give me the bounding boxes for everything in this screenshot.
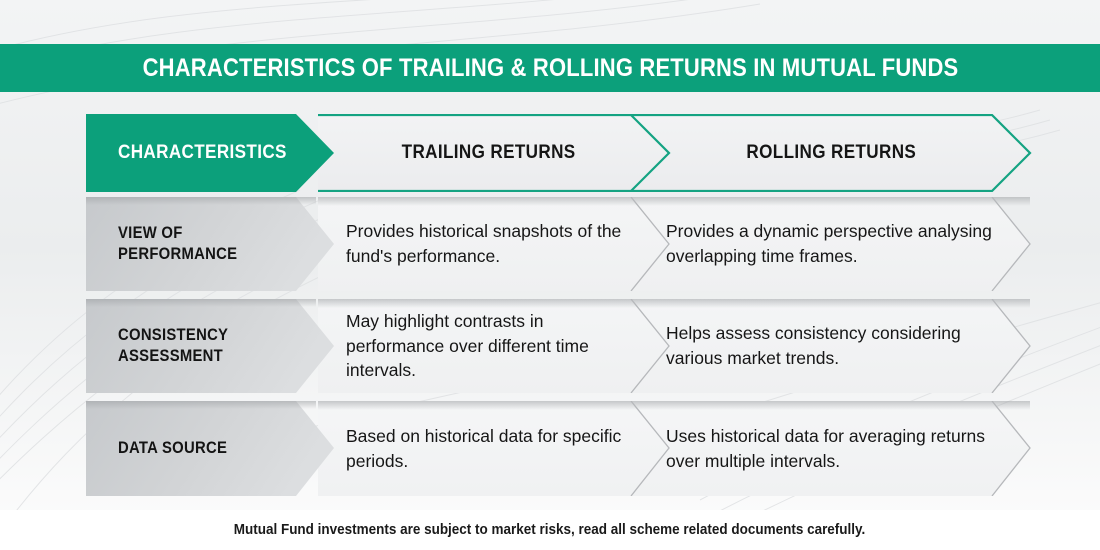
- characteristic-line-1: CONSISTENCY: [118, 325, 228, 346]
- row-characteristic-label: VIEW OF PERFORMANCE: [118, 223, 237, 265]
- header-label-trailing-returns: TRAILING RETURNS: [402, 142, 576, 164]
- header-label-rolling-returns: ROLLING RETURNS: [746, 142, 916, 164]
- header-cell-trailing-returns: TRAILING RETURNS: [336, 114, 641, 192]
- table-row: DATA SOURCE Based on historical data for…: [86, 401, 1034, 496]
- trailing-description: May highlight contrasts in performance o…: [346, 309, 641, 384]
- rolling-description: Uses historical data for averaging retur…: [666, 424, 1016, 474]
- row-trailing-cell: May highlight contrasts in performance o…: [336, 299, 641, 393]
- row-trailing-cell: Provides historical snapshots of the fun…: [336, 197, 641, 291]
- table-row: VIEW OF PERFORMANCE Provides historical …: [86, 197, 1034, 291]
- row-rolling-cell: Uses historical data for averaging retur…: [646, 401, 1016, 496]
- infographic-root: CHARACTERISTICS OF TRAILING & ROLLING RE…: [0, 0, 1100, 550]
- characteristic-line-2: ASSESSMENT: [118, 346, 228, 367]
- row-characteristic-label: CONSISTENCY ASSESSMENT: [118, 325, 228, 367]
- footer-band: Mutual Fund investments are subject to m…: [0, 510, 1100, 550]
- row-characteristic-cell: DATA SOURCE: [86, 401, 331, 496]
- characteristic-line-1: VIEW OF: [118, 223, 237, 244]
- comparison-table: CHARACTERISTICS TRAILING RETURNS ROLLING…: [86, 114, 1034, 496]
- row-characteristic-label: DATA SOURCE: [118, 438, 227, 459]
- rolling-description: Helps assess consistency considering var…: [666, 321, 1016, 371]
- header-cell-characteristics: CHARACTERISTICS: [86, 114, 331, 192]
- trailing-description: Provides historical snapshots of the fun…: [346, 219, 641, 269]
- disclaimer-text: Mutual Fund investments are subject to m…: [234, 522, 866, 538]
- row-trailing-cell: Based on historical data for specific pe…: [336, 401, 641, 496]
- row-rolling-cell: Provides a dynamic perspective analysing…: [646, 197, 1016, 291]
- trailing-description: Based on historical data for specific pe…: [346, 424, 641, 474]
- characteristic-line-1: DATA SOURCE: [118, 438, 227, 459]
- title-band: CHARACTERISTICS OF TRAILING & ROLLING RE…: [0, 44, 1100, 92]
- table-header-row: CHARACTERISTICS TRAILING RETURNS ROLLING…: [86, 114, 1034, 192]
- header-cell-rolling-returns: ROLLING RETURNS: [646, 114, 1016, 192]
- row-characteristic-cell: VIEW OF PERFORMANCE: [86, 197, 331, 291]
- characteristic-line-2: PERFORMANCE: [118, 244, 237, 265]
- row-rolling-cell: Helps assess consistency considering var…: [646, 299, 1016, 393]
- page-title: CHARACTERISTICS OF TRAILING & ROLLING RE…: [142, 54, 958, 83]
- rolling-description: Provides a dynamic perspective analysing…: [666, 219, 1016, 269]
- row-characteristic-cell: CONSISTENCY ASSESSMENT: [86, 299, 331, 393]
- header-label-characteristics: CHARACTERISTICS: [118, 142, 287, 164]
- table-row: CONSISTENCY ASSESSMENT May highlight con…: [86, 299, 1034, 393]
